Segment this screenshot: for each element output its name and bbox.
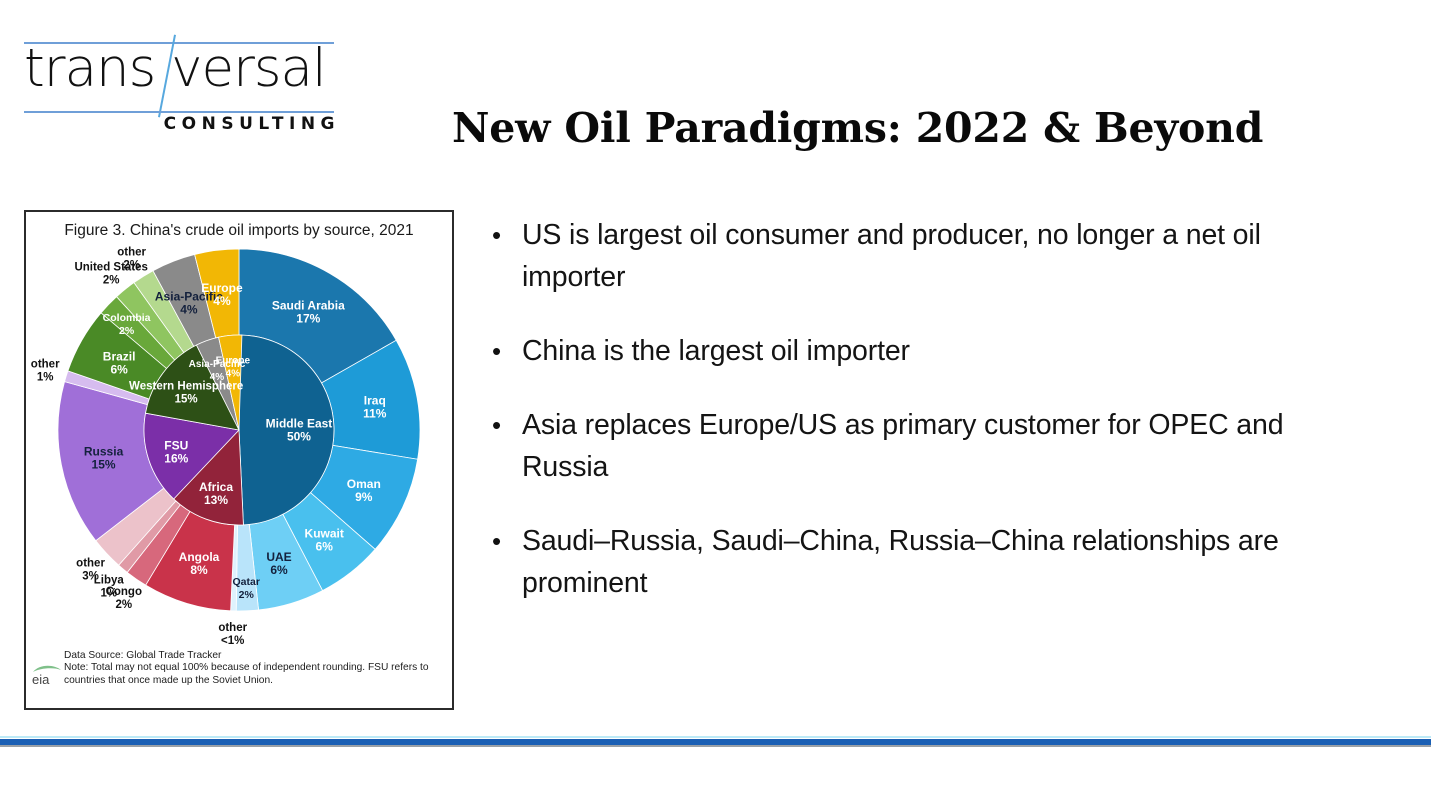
bullet-list: • US is largest oil consumer and produce… [492,214,1392,636]
chart-label: Europe [216,355,251,366]
chart-label: 4% [213,294,231,308]
chart-label: Russia [84,445,124,459]
chart-label: <1% [221,635,244,647]
donut-chart: Middle East50%Africa13%FSU16%Western Hem… [26,234,452,654]
chart-label: other [218,622,247,634]
bullet-item: • Asia replaces Europe/US as primary cus… [492,404,1392,488]
chart-label: 8% [190,563,208,577]
chart-label: 3% [82,570,99,582]
chart-label: Qatar [233,576,260,588]
chart-label: 2% [115,599,132,611]
bullet-marker-icon: • [492,330,522,372]
chart-label: 2% [239,589,255,601]
figure-notes: Data Source: Global Trade Tracker Note: … [64,650,446,687]
chart-label: 4% [226,368,241,379]
eia-logo: eia [30,658,64,688]
figure-panel: Figure 3. China's crude oil imports by s… [24,210,454,710]
chart-label: Angola [179,550,220,564]
bullet-text: US is largest oil consumer and producer,… [522,214,1367,298]
chart-label: Western Hemisphere [129,380,243,392]
svg-text:eia: eia [32,672,50,687]
chart-label: Europe [201,281,243,295]
chart-label: 9% [355,490,373,504]
chart-label: 6% [270,563,288,577]
chart-label: Colombia [103,312,151,324]
chart-label: 2% [123,260,140,272]
chart-label: Kuwait [305,527,344,541]
chart-label: FSU [164,439,188,453]
footer-rule-grey [0,745,1431,747]
chart-label: other [76,557,105,569]
footer-rule-cyan [0,736,1431,738]
slide-title: New Oil Paradigms: 2022 & Beyond [452,104,1352,152]
chart-label: 1% [100,588,117,600]
logo-subtitle: CONSULTING [164,114,340,134]
chart-label: 50% [287,430,311,444]
chart-label: other [31,359,60,371]
chart-label: 17% [296,312,320,326]
chart-label: 15% [92,458,116,472]
bullet-item: • Saudi–Russia, Saudi–China, Russia–Chin… [492,520,1392,604]
bullet-text: China is the largest oil importer [522,330,910,372]
chart-label: other [117,247,146,259]
logo-rule-bottom [24,111,334,113]
chart-label: 6% [316,540,334,554]
chart-label: 15% [175,393,198,405]
chart-label: 13% [204,493,228,507]
chart-slices [58,249,420,611]
chart-label: 11% [363,407,387,421]
chart-label: 1% [37,372,54,384]
figure-note: Note: Total may not equal 100% because o… [64,662,446,687]
chart-label: Africa [199,480,233,494]
chart-label: UAE [266,550,291,564]
logo-wordmark: trans versal [24,42,326,95]
chart-label: Saudi Arabia [272,299,345,313]
chart-label: 16% [164,452,188,466]
brand-logo: trans versal CONSULTING [20,28,340,136]
figure-source: Data Source: Global Trade Tracker [64,650,446,662]
bullet-marker-icon: • [492,404,522,488]
chart-label: Brazil [103,350,136,364]
chart-label: 6% [110,363,128,377]
chart-label: 2% [119,325,135,337]
bullet-marker-icon: • [492,520,522,604]
bullet-item: • US is largest oil consumer and produce… [492,214,1392,298]
chart-label: Iraq [364,394,386,408]
chart-label: 4% [210,372,225,383]
bullet-marker-icon: • [492,214,522,298]
chart-label: Middle East [266,417,333,431]
bullet-text: Asia replaces Europe/US as primary custo… [522,404,1367,488]
chart-label: Oman [347,477,381,491]
chart-label: 4% [180,302,198,316]
chart-label: 2% [103,274,120,286]
bullet-item: • China is the largest oil importer [492,330,1392,372]
bullet-text: Saudi–Russia, Saudi–China, Russia–China … [522,520,1367,604]
